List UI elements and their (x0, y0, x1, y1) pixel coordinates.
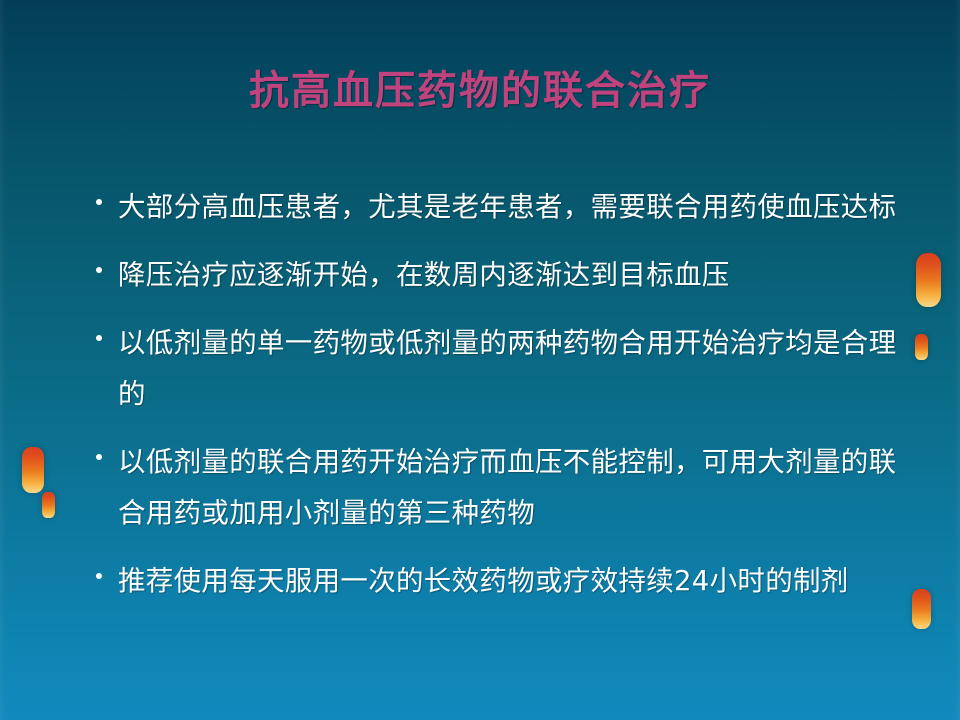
bullet-marker-icon (96, 556, 118, 579)
pill-right-large-icon (916, 253, 941, 307)
list-item-text: 推荐使用每天服用一次的长效药物或疗效持续24小时的制剂 (118, 556, 910, 607)
presentation-slide: 抗高血压药物的联合治疗 大部分高血压患者，尤其是老年患者，需要联合用药使血压达标… (0, 0, 960, 720)
bullet-marker-icon (96, 318, 118, 341)
list-item: 以低剂量的联合用药开始治疗而血压不能控制，可用大剂量的联合用药或加用小剂量的第三… (96, 437, 910, 539)
list-item-text: 降压治疗应逐渐开始，在数周内逐渐达到目标血压 (118, 250, 910, 301)
bullet-marker-icon (96, 250, 118, 273)
pill-left-large-icon (22, 447, 44, 493)
list-item: 推荐使用每天服用一次的长效药物或疗效持续24小时的制剂 (96, 556, 910, 607)
pill-right-bottom-icon (912, 589, 931, 629)
list-item: 降压治疗应逐渐开始，在数周内逐渐达到目标血压 (96, 250, 910, 301)
list-item-text: 以低剂量的单一药物或低剂量的两种药物合用开始治疗均是合理的 (118, 318, 910, 420)
bullet-marker-icon (96, 437, 118, 460)
bullet-list: 大部分高血压患者，尤其是老年患者，需要联合用药使血压达标 降压治疗应逐渐开始，在… (96, 182, 910, 624)
list-item: 以低剂量的单一药物或低剂量的两种药物合用开始治疗均是合理的 (96, 318, 910, 420)
pill-right-small-icon (915, 334, 928, 360)
list-item: 大部分高血压患者，尤其是老年患者，需要联合用药使血压达标 (96, 182, 910, 233)
pill-left-small-icon (42, 492, 55, 518)
list-item-text: 以低剂量的联合用药开始治疗而血压不能控制，可用大剂量的联合用药或加用小剂量的第三… (118, 437, 910, 539)
bullet-marker-icon (96, 182, 118, 205)
page-title: 抗高血压药物的联合治疗 (0, 58, 960, 116)
list-item-text: 大部分高血压患者，尤其是老年患者，需要联合用药使血压达标 (118, 182, 910, 233)
